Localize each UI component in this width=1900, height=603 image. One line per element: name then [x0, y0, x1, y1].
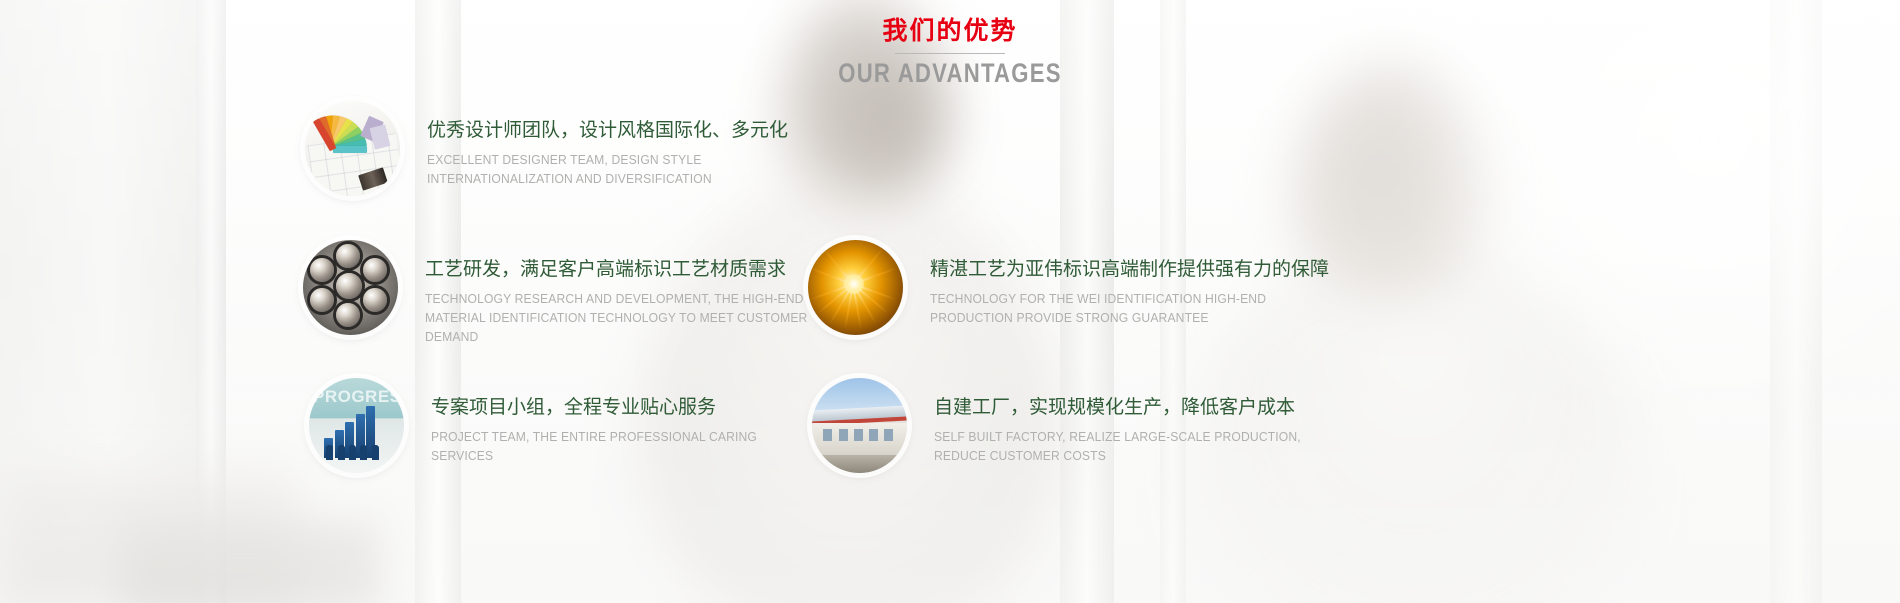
feature-item-designer-team[interactable]: 优秀设计师团队，设计风格国际化、多元化 EXCELLENT DESIGNER T… — [305, 101, 827, 196]
title-divider — [895, 53, 1005, 54]
feature-heading: 自建工厂，实现规模化生产，降低客户成本 — [934, 394, 1334, 421]
feature-heading: 专案项目小组，全程专业贴心服务 — [431, 394, 831, 421]
page-title-cn: 我们的优势 — [0, 16, 1900, 46]
feature-text: 优秀设计师团队，设计风格国际化、多元化 EXCELLENT DESIGNER T… — [427, 101, 827, 189]
color-palette-icon — [305, 101, 400, 196]
steel-cable-icon — [303, 240, 398, 335]
feature-item-technology-rd[interactable]: 工艺研发，满足客户高端标识工艺材质需求 TECHNOLOGY RESEARCH … — [303, 240, 825, 347]
advantages-section: 我们的优势 OUR ADVANTAGES — [0, 0, 1900, 603]
section-header: 我们的优势 OUR ADVANTAGES — [0, 16, 1900, 89]
feature-text: 专案项目小组，全程专业贴心服务 PROJECT TEAM, THE ENTIRE… — [431, 378, 831, 466]
feature-text: 自建工厂，实现规模化生产，降低客户成本 SELF BUILT FACTORY, … — [934, 378, 1334, 466]
feature-text: 工艺研发，满足客户高端标识工艺材质需求 TECHNOLOGY RESEARCH … — [425, 240, 825, 347]
feature-item-project-team[interactable]: PROGRESS 专案项目小组，全程专业贴心服务 PROJECT TEAM, T… — [309, 378, 831, 473]
feature-subtitle: EXCELLENT DESIGNER TEAM, DESIGN STYLE IN… — [427, 151, 815, 189]
welding-sparks-icon — [808, 240, 903, 335]
factory-building-icon — [812, 378, 907, 473]
feature-subtitle: PROJECT TEAM, THE ENTIRE PROFESSIONAL CA… — [431, 428, 819, 466]
feature-subtitle: SELF BUILT FACTORY, REALIZE LARGE-SCALE … — [934, 428, 1322, 466]
feature-subtitle: TECHNOLOGY FOR THE WEI IDENTIFICATION HI… — [930, 290, 1318, 328]
feature-heading: 工艺研发，满足客户高端标识工艺材质需求 — [425, 256, 825, 283]
feature-heading: 精湛工艺为亚伟标识高端制作提供强有力的保障 — [930, 256, 1330, 283]
feature-item-craftsmanship[interactable]: 精湛工艺为亚伟标识高端制作提供强有力的保障 TECHNOLOGY FOR THE… — [808, 240, 1330, 335]
page-title-en: OUR ADVANTAGES — [171, 58, 1729, 89]
business-team-icon: PROGRESS — [309, 378, 404, 473]
feature-subtitle: TECHNOLOGY RESEARCH AND DEVELOPMENT, THE… — [425, 290, 813, 347]
feature-text: 精湛工艺为亚伟标识高端制作提供强有力的保障 TECHNOLOGY FOR THE… — [930, 240, 1330, 328]
feature-item-self-built-factory[interactable]: 自建工厂，实现规模化生产，降低客户成本 SELF BUILT FACTORY, … — [812, 378, 1334, 473]
feature-heading: 优秀设计师团队，设计风格国际化、多元化 — [427, 117, 827, 144]
